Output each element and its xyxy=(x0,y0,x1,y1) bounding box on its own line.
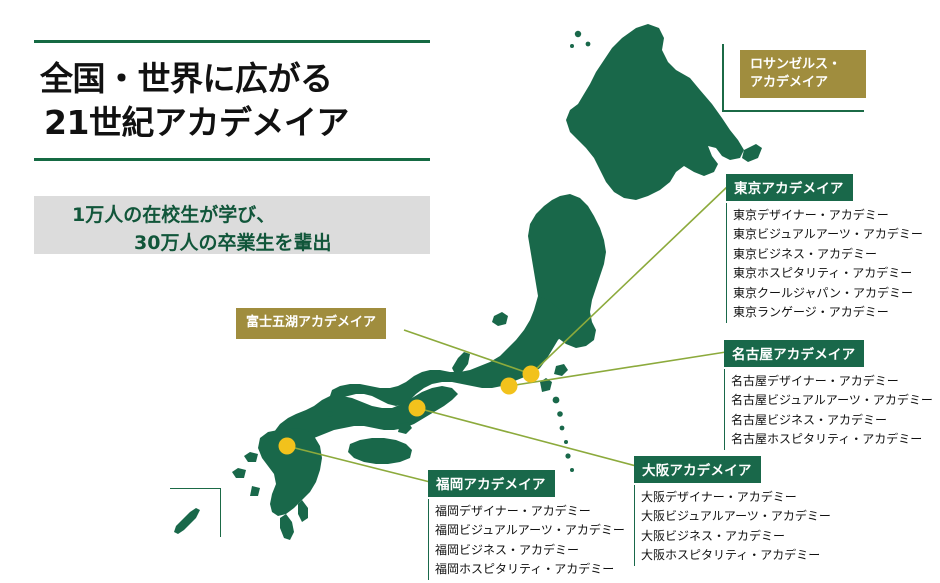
list-item: 福岡ビジュアルアーツ・アカデミー xyxy=(435,521,625,540)
marker-nagoya xyxy=(501,378,518,395)
title-rule-bottom xyxy=(34,158,430,161)
card-tokyo-list: 東京デザイナー・アカデミー 東京ビジュアルアーツ・アカデミー 東京ビジネス・アカ… xyxy=(726,203,923,323)
card-osaka-heading: 大阪アカデメイア xyxy=(634,456,761,483)
list-item: 東京ビジュアルアーツ・アカデミー xyxy=(733,225,923,244)
list-item: 大阪ビジュアルアーツ・アカデミー xyxy=(641,507,831,526)
card-nagoya[interactable]: 名古屋アカデメイア 名古屋デザイナー・アカデミー 名古屋ビジュアルアーツ・アカデ… xyxy=(724,340,933,450)
page-title-line-2: 21世紀アカデメイア xyxy=(40,101,430,145)
list-item: 名古屋デザイナー・アカデミー xyxy=(731,372,933,391)
list-item: 福岡ビジネス・アカデミー xyxy=(435,541,625,560)
card-nagoya-heading: 名古屋アカデメイア xyxy=(724,340,864,367)
marker-fukuoka xyxy=(279,438,296,455)
list-item: 東京ホスピタリティ・アカデミー xyxy=(733,264,923,283)
list-item: 福岡ホスピタリティ・アカデミー xyxy=(435,560,625,579)
marker-osaka xyxy=(409,400,426,417)
list-item: 福岡デザイナー・アカデミー xyxy=(435,502,625,521)
card-osaka[interactable]: 大阪アカデメイア 大阪デザイナー・アカデミー 大阪ビジュアルアーツ・アカデミー … xyxy=(634,456,831,566)
list-item: 東京ランゲージ・アカデミー xyxy=(733,303,923,322)
connector-osaka xyxy=(417,408,636,466)
list-item: 大阪デザイナー・アカデミー xyxy=(641,488,831,507)
label-los-angeles[interactable]: ロサンゼルス・ アカデメイア xyxy=(740,50,866,98)
list-item: 名古屋ホスピタリティ・アカデミー xyxy=(731,430,933,449)
list-item: 大阪ホスピタリティ・アカデミー xyxy=(641,546,831,565)
page-title-line-1: 全国・世界に広がる xyxy=(40,57,430,101)
title-block: 全国・世界に広がる 21世紀アカデメイア xyxy=(34,40,430,161)
list-item: 東京クールジャパン・アカデミー xyxy=(733,284,923,303)
subtitle-line-2: 30万人の卒業生を輩出 xyxy=(34,230,430,258)
list-item: 名古屋ビジネス・アカデミー xyxy=(731,411,933,430)
list-item: 東京デザイナー・アカデミー xyxy=(733,206,923,225)
okinawa-inset-frame xyxy=(170,488,221,537)
label-fuji-five-lakes[interactable]: 富士五湖アカデメイア xyxy=(236,308,386,339)
list-item: 東京ビジネス・アカデミー xyxy=(733,245,923,264)
card-nagoya-list: 名古屋デザイナー・アカデミー 名古屋ビジュアルアーツ・アカデミー 名古屋ビジネス… xyxy=(724,369,933,450)
la-label-line-2: アカデメイア xyxy=(750,74,856,92)
subtitle-band: 1万人の在校生が学び、 30万人の卒業生を輩出 xyxy=(34,196,430,254)
list-item: 名古屋ビジュアルアーツ・アカデミー xyxy=(731,391,933,410)
la-label-line-1: ロサンゼルス・ xyxy=(750,56,856,74)
infographic-canvas: 全国・世界に広がる 21世紀アカデメイア 1万人の在校生が学び、 30万人の卒業… xyxy=(0,0,940,583)
card-osaka-list: 大阪デザイナー・アカデミー 大阪ビジュアルアーツ・アカデミー 大阪ビジネス・アカ… xyxy=(634,485,831,566)
card-fukuoka[interactable]: 福岡アカデメイア 福岡デザイナー・アカデミー 福岡ビジュアルアーツ・アカデミー … xyxy=(428,470,625,580)
list-item: 大阪ビジネス・アカデミー xyxy=(641,527,831,546)
card-tokyo-heading: 東京アカデメイア xyxy=(726,174,853,201)
card-fukuoka-list: 福岡デザイナー・アカデミー 福岡ビジュアルアーツ・アカデミー 福岡ビジネス・アカ… xyxy=(428,499,625,580)
marker-tokyo xyxy=(523,366,540,383)
subtitle-line-1: 1万人の在校生が学び、 xyxy=(34,196,430,230)
card-fukuoka-heading: 福岡アカデメイア xyxy=(428,470,555,497)
card-tokyo[interactable]: 東京アカデメイア 東京デザイナー・アカデミー 東京ビジュアルアーツ・アカデミー … xyxy=(726,174,923,323)
